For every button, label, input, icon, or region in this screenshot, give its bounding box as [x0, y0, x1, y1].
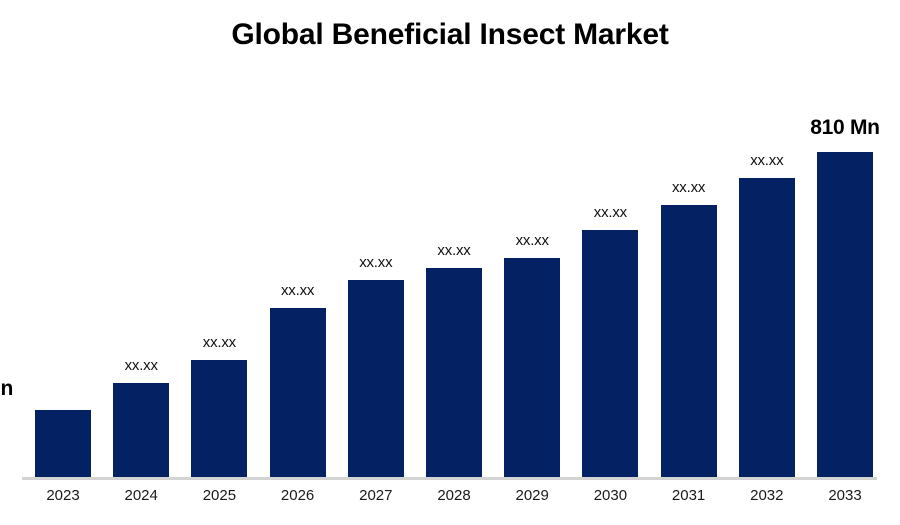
category-label-2024: 2024 — [125, 487, 158, 504]
bar-2026 — [270, 308, 326, 477]
bar-2024 — [113, 383, 169, 477]
bar-2030 — [582, 230, 638, 477]
value-label-2031: xx.xx — [672, 179, 705, 196]
category-label-2028: 2028 — [437, 487, 470, 504]
bar-2025 — [191, 360, 247, 477]
value-label-2033: 810 Mn — [810, 116, 879, 140]
category-label-2033: 2033 — [828, 487, 861, 504]
value-label-2030: xx.xx — [594, 204, 627, 221]
bar-2027 — [348, 280, 404, 477]
value-label-2025: xx.xx — [203, 334, 236, 351]
plot-area: 2110 Mn2023xx.xx2024xx.xx2025xx.xx2026xx… — [0, 0, 900, 525]
value-label-2027: xx.xx — [359, 254, 392, 271]
category-label-2032: 2032 — [750, 487, 783, 504]
category-label-2023: 2023 — [46, 487, 79, 504]
bar-2033 — [817, 152, 873, 477]
bar-2031 — [661, 205, 717, 477]
value-label-2029: xx.xx — [516, 232, 549, 249]
category-label-2025: 2025 — [203, 487, 236, 504]
bar-2023 — [35, 410, 91, 477]
category-label-2026: 2026 — [281, 487, 314, 504]
category-label-2027: 2027 — [359, 487, 392, 504]
bar-chart-figure: Global Beneficial Insect Market 2110 Mn2… — [0, 0, 900, 525]
category-label-2029: 2029 — [516, 487, 549, 504]
value-label-2032: xx.xx — [750, 152, 783, 169]
x-axis-line — [22, 477, 877, 480]
bar-2029 — [504, 258, 560, 477]
value-label-2024: xx.xx — [125, 357, 158, 374]
value-label-2026: xx.xx — [281, 282, 314, 299]
category-label-2030: 2030 — [594, 487, 627, 504]
bar-2032 — [739, 178, 795, 477]
value-label-2028: xx.xx — [437, 242, 470, 259]
category-label-2031: 2031 — [672, 487, 705, 504]
value-label-2023: 2110 Mn — [0, 377, 13, 401]
bar-2028 — [426, 268, 482, 477]
